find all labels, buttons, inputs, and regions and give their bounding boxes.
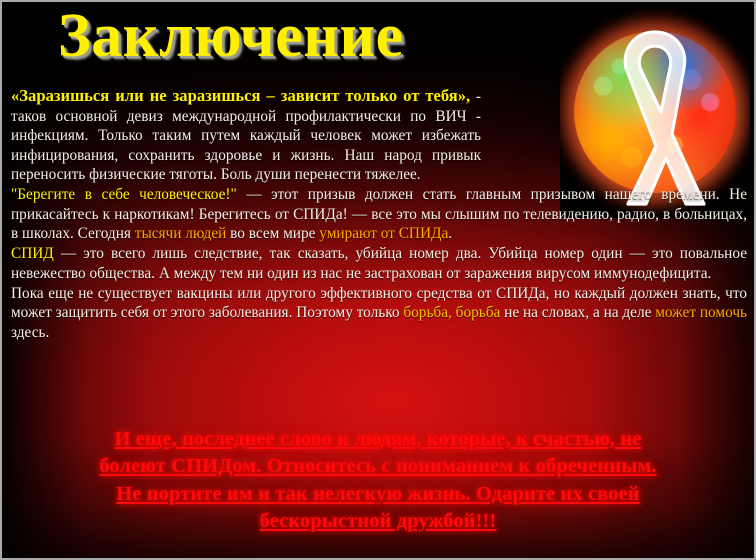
callout-line-4: бескорыстной дружбой!!! [42, 508, 714, 535]
paragraph-4-text-b: не на словах, а на деле [500, 304, 655, 321]
paragraph-4-text-c: здесь. [11, 324, 49, 341]
paragraph-1: «Заразишься или не заразишься – зависит … [11, 86, 481, 184]
highlight-struggle: борьба, борьба [403, 304, 500, 321]
paragraph-2-text-c: . [448, 225, 452, 242]
paragraph-2: "Берегите в себе человеческое!" — этот п… [11, 185, 747, 243]
slide-content: Заключение «Зара [2, 2, 754, 558]
callout-line-2: болеют СПИДом. Относитесь с пониманием к… [42, 453, 714, 480]
callout-line-1-text: И еще, последнее слово к людям, которые,… [114, 428, 641, 450]
body-copy: «Заразишься или не заразишься – зависит … [11, 86, 747, 343]
highlight-die-of-aids: умирают от СПИДа [319, 225, 448, 242]
presentation-slide: Заключение «Зара [0, 0, 756, 560]
paragraph-4: Пока еще не существует вакцины или друго… [11, 284, 747, 342]
highlight-can-help: может помочь [655, 304, 747, 321]
callout-line-3: Не портите им и так нелегкую жизнь. Одар… [42, 481, 714, 508]
highlight-thousands-of-people: тысячи людей [135, 225, 227, 242]
paragraph-3-text: — это всего лишь следствие, так сказать,… [11, 245, 747, 281]
highlight-preserve-humanity: "Берегите в себе человеческое!" [11, 186, 237, 203]
callout-line-2-text: болеют СПИДом. Относитесь с пониманием к… [99, 455, 656, 477]
closing-appeal: И еще, последнее слово к людям, которые,… [42, 426, 714, 535]
paragraph-2-text-b: во всем мире [226, 225, 319, 242]
callout-line-3-text: Не портите им и так нелегкую жизнь. Одар… [116, 483, 639, 505]
lead-quote: «Заразишься или не заразишься – зависит … [11, 86, 470, 105]
slide-title: Заключение [58, 4, 404, 69]
callout-line-4-text: бескорыстной дружбой!!! [260, 510, 497, 532]
paragraph-3: СПИД — это всего лишь следствие, так ска… [11, 244, 747, 283]
highlight-aids: СПИД [11, 245, 54, 262]
callout-line-1: И еще, последнее слово к людям, которые,… [42, 426, 714, 453]
